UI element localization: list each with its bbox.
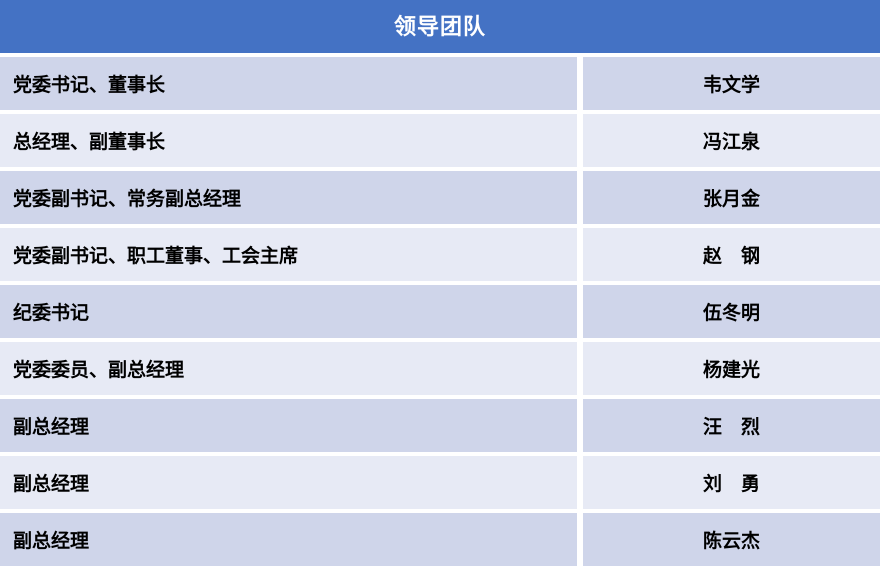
table-row: 总经理、副董事长冯江泉	[0, 114, 880, 167]
page-title: 领导团队	[394, 16, 486, 38]
cell-role: 党委委员、副总经理	[0, 342, 577, 395]
table-row: 副总经理陈云杰	[0, 513, 880, 566]
cell-name: 冯江泉	[583, 114, 880, 167]
table-row: 副总经理汪 烈	[0, 399, 880, 452]
cell-name: 杨建光	[583, 342, 880, 395]
cell-name: 韦文学	[583, 57, 880, 110]
cell-role: 党委副书记、职工董事、工会主席	[0, 228, 577, 281]
table-header-banner: 领导团队	[0, 0, 880, 53]
cell-role: 纪委书记	[0, 285, 577, 338]
table-row: 党委副书记、职工董事、工会主席赵 钢	[0, 228, 880, 281]
cell-role: 总经理、副董事长	[0, 114, 577, 167]
cell-name: 汪 烈	[583, 399, 880, 452]
cell-name: 赵 钢	[583, 228, 880, 281]
table-row: 党委副书记、常务副总经理张月金	[0, 171, 880, 224]
cell-name: 陈云杰	[583, 513, 880, 566]
table-row: 党委书记、董事长韦文学	[0, 57, 880, 110]
table-row: 纪委书记伍冬明	[0, 285, 880, 338]
leadership-team-table: 领导团队 党委书记、董事长韦文学总经理、副董事长冯江泉党委副书记、常务副总经理张…	[0, 0, 880, 566]
cell-role: 党委书记、董事长	[0, 57, 577, 110]
table-row: 党委委员、副总经理杨建光	[0, 342, 880, 395]
cell-name: 刘 勇	[583, 456, 880, 509]
cell-role: 党委副书记、常务副总经理	[0, 171, 577, 224]
table-row: 副总经理刘 勇	[0, 456, 880, 509]
cell-name: 张月金	[583, 171, 880, 224]
cell-role: 副总经理	[0, 456, 577, 509]
table-body: 党委书记、董事长韦文学总经理、副董事长冯江泉党委副书记、常务副总经理张月金党委副…	[0, 53, 880, 566]
cell-name: 伍冬明	[583, 285, 880, 338]
cell-role: 副总经理	[0, 399, 577, 452]
cell-role: 副总经理	[0, 513, 577, 566]
